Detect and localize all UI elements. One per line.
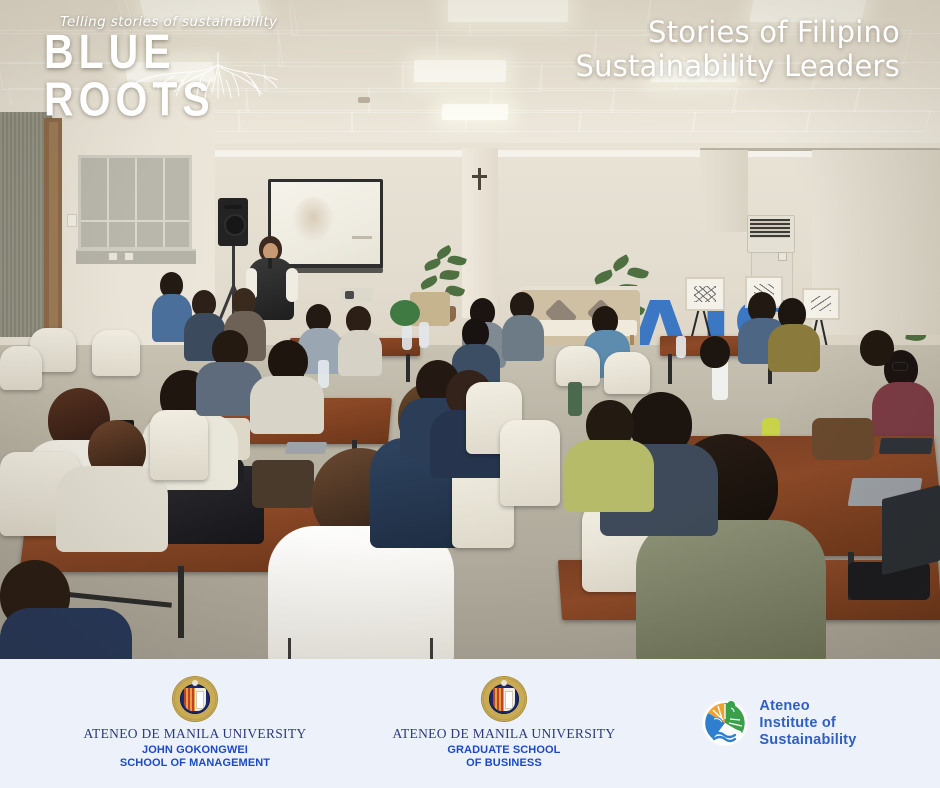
handbag: [812, 418, 874, 460]
unit-name-line2: SCHOOL OF MANAGEMENT: [120, 757, 270, 770]
water-bottle: [419, 322, 429, 348]
framed-artwork: [685, 277, 725, 311]
chair-leg: [430, 638, 433, 659]
laptop[interactable]: [285, 442, 328, 454]
water-bottle: [318, 360, 329, 388]
chair-leg: [288, 638, 291, 659]
attendee-head: [700, 336, 730, 368]
attendee-body: [56, 466, 168, 552]
university-name: ATENEO DE MANILA UNIVERSITY: [84, 727, 307, 741]
chair: [0, 346, 42, 390]
crucifix-icon: [478, 168, 481, 190]
window: [78, 155, 192, 250]
speaker-sleeve: [286, 268, 298, 302]
framed-artwork: [802, 288, 840, 320]
ac-grill: [750, 219, 790, 238]
attendee-body: [338, 330, 382, 376]
unit-name-line1: GRADUATE SCHOOL: [447, 744, 560, 757]
ceiling-light: [414, 60, 506, 82]
attendee-head: [860, 330, 894, 366]
laptop-screen[interactable]: [882, 485, 940, 575]
university-name: ATENEO DE MANILA UNIVERSITY: [392, 727, 615, 741]
thermos-bottle: [568, 382, 582, 416]
chair: [500, 420, 560, 506]
institute-name-line1: Ateneo: [759, 698, 856, 715]
curtain: [700, 150, 748, 232]
crucifix-icon: [472, 175, 487, 178]
logo-ateneo-institute-of-sustainability: Ateneo Institute of Sustainability: [701, 698, 856, 749]
attendee-body: [636, 520, 826, 659]
chair: [92, 330, 140, 376]
brand-name: BLUE ROOTS: [44, 28, 284, 123]
ateneo-institute-of-sustainability-icon: [701, 699, 749, 747]
microphone-icon: [268, 258, 272, 269]
institute-name-line2: Institute of: [759, 715, 856, 732]
footer-logo-bar: ATENEO DE MANILA UNIVERSITY JOHN GOKONGW…: [0, 659, 940, 788]
pa-speaker-port: [224, 205, 242, 209]
chair: [604, 352, 650, 394]
attendee-body: [502, 315, 544, 361]
attendee-body: [0, 608, 132, 659]
laptop[interactable]: [879, 438, 933, 454]
blue-roots-brand: Telling stories of sustainability BLUE R…: [44, 14, 284, 108]
table-leg: [668, 354, 672, 384]
window-sill: [76, 249, 196, 264]
ceiling-light: [448, 0, 568, 22]
projected-slide-image: [292, 197, 334, 243]
eyeglasses-icon: [892, 362, 908, 371]
water-bottle: [402, 326, 412, 350]
unit-name: GRADUATE SCHOOL OF BUSINESS: [447, 744, 560, 769]
table-leg: [406, 354, 410, 382]
ateneo-seal-icon: [482, 677, 526, 721]
slide-canvas: AIS: [0, 0, 940, 788]
projected-slide-text: [352, 236, 372, 239]
leather-bag: [252, 460, 314, 508]
institute-name: Ateneo Institute of Sustainability: [759, 698, 856, 749]
chair: [556, 346, 600, 386]
page-title-line2: Sustainability Leaders: [575, 50, 900, 84]
table-leg: [178, 566, 184, 638]
ateneo-seal-icon: [173, 677, 217, 721]
ceiling-light: [442, 104, 509, 120]
chair: [150, 410, 208, 480]
attendee-body: [768, 324, 820, 372]
page-title-line1: Stories of Filipino: [575, 16, 900, 50]
unit-name-line2: OF BUSINESS: [447, 757, 560, 770]
projector-lens: [345, 291, 354, 299]
power-outlet: [108, 252, 118, 261]
power-outlet: [124, 252, 134, 261]
pa-speaker-cone: [224, 214, 246, 236]
green-circle-sign: [390, 300, 420, 326]
door[interactable]: [49, 122, 58, 328]
logo-jgsom: ATENEO DE MANILA UNIVERSITY JOHN GOKONGW…: [84, 677, 307, 769]
unit-name-line1: JOHN GOKONGWEI: [120, 744, 270, 757]
attendee-body: [564, 440, 654, 512]
light-switch[interactable]: [67, 214, 77, 227]
institute-name-line3: Sustainability: [759, 732, 856, 749]
attendee-body: [250, 376, 324, 434]
power-outlet: [778, 252, 787, 261]
unit-name: JOHN GOKONGWEI SCHOOL OF MANAGEMENT: [120, 744, 270, 769]
logo-gsb: ATENEO DE MANILA UNIVERSITY GRADUATE SCH…: [392, 677, 615, 769]
water-bottle: [676, 336, 686, 358]
page-title: Stories of Filipino Sustainability Leade…: [575, 16, 900, 83]
